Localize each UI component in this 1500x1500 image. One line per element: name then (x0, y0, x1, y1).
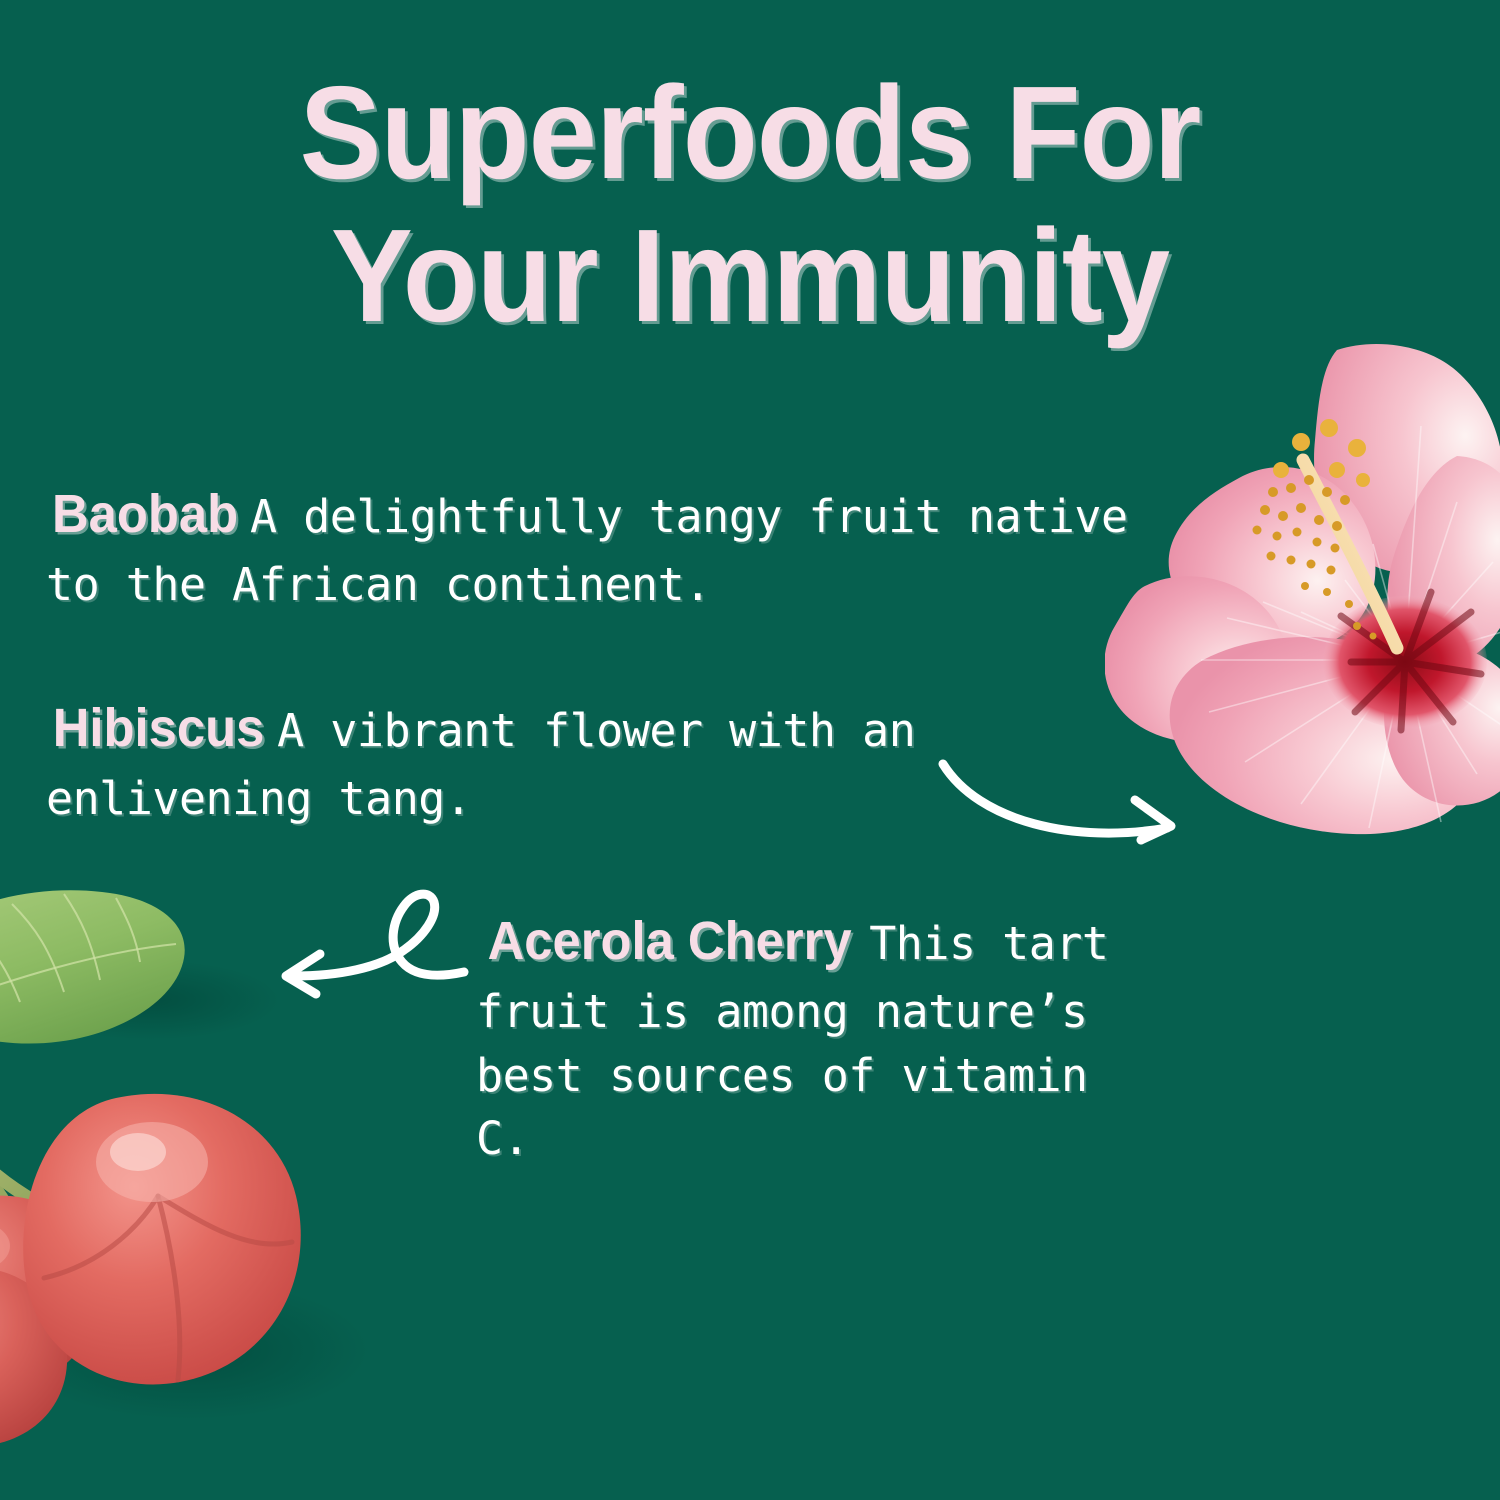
page-title: Superfoods For Your Immunity (0, 62, 1500, 347)
title-line-1: Superfoods For (53, 62, 1448, 205)
arrow-right-icon (935, 752, 1215, 852)
entry-baobab-term: Baobab (52, 476, 238, 553)
entry-hibiscus: HibiscusA vibrant flower with an enliven… (46, 690, 1046, 831)
entry-acerola: Acerola CherryThis tart fruit is among n… (476, 903, 1166, 1171)
entry-hibiscus-term: Hibiscus (53, 690, 265, 767)
entry-baobab: BaobabA delightfully tangy fruit native … (46, 476, 1136, 617)
arrow-left-loop-icon (268, 884, 483, 999)
cherry-highlight-spec (110, 1133, 166, 1171)
title-line-2: Your Immunity (53, 205, 1448, 348)
entry-acerola-term: Acerola Cherry (488, 903, 852, 980)
poster-canvas: Superfoods For Your Immunity (0, 0, 1500, 1500)
